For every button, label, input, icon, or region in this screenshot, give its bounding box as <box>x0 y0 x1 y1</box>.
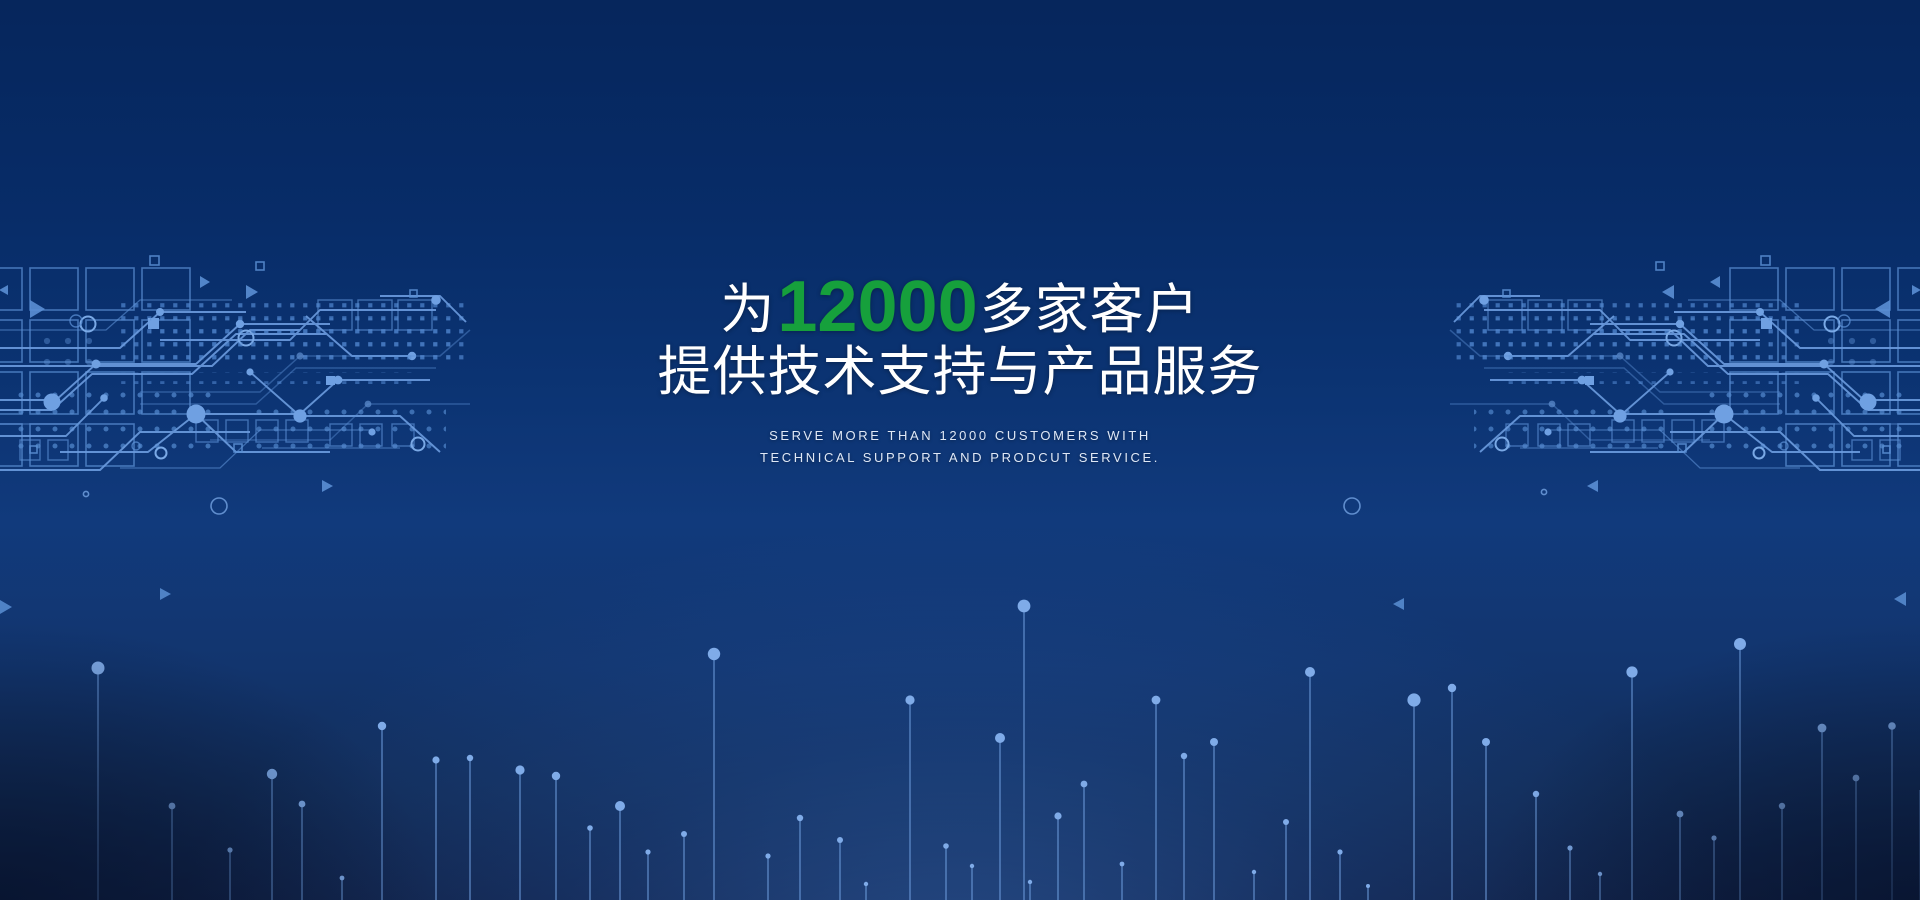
headline-line-2: 提供技术支持与产品服务 <box>460 341 1460 403</box>
subtitle-line-1: SERVE MORE THAN 12000 CUSTOMERS WITH <box>460 425 1460 447</box>
hero-text-block: 为12000多家客户 提供技术支持与产品服务 SERVE MORE THAN 1… <box>460 276 1460 469</box>
subtitle-block: SERVE MORE THAN 12000 CUSTOMERS WITH TEC… <box>460 425 1460 469</box>
headline-suffix: 多家客户 <box>980 280 1200 340</box>
headline-customer-count: 12000 <box>777 267 977 347</box>
subtitle-line-2: TECHNICAL SUPPORT AND PRODCUT SERVICE. <box>460 447 1460 469</box>
banner-root: 为12000多家客户 提供技术支持与产品服务 SERVE MORE THAN 1… <box>0 0 1920 900</box>
headline-line-1: 为12000多家客户 <box>460 276 1460 341</box>
headline-prefix: 为 <box>720 280 775 340</box>
